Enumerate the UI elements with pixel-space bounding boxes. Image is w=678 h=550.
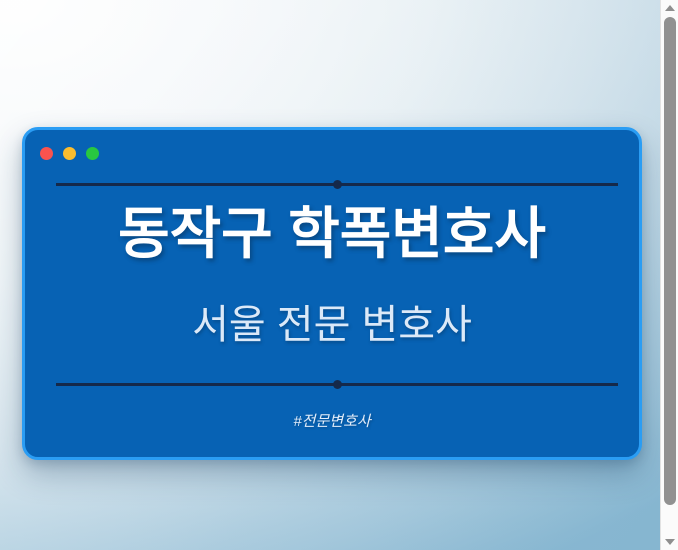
card-subheadline: 서울 전문 변호사 bbox=[25, 303, 639, 348]
card-headline: 동작구 학폭변호사 bbox=[25, 204, 639, 264]
divider-bottom bbox=[56, 383, 618, 386]
vertical-scrollbar[interactable] bbox=[660, 0, 678, 550]
window-traffic-lights bbox=[40, 147, 99, 160]
divider-top bbox=[56, 183, 618, 186]
scroll-down-icon[interactable] bbox=[661, 535, 678, 549]
minimize-icon[interactable] bbox=[63, 147, 76, 160]
scroll-up-icon[interactable] bbox=[661, 1, 678, 15]
browser-viewport: 동작구 학폭변호사 서울 전문 변호사 #전문변호사 bbox=[0, 0, 678, 550]
promo-card: 동작구 학폭변호사 서울 전문 변호사 #전문변호사 bbox=[22, 127, 642, 460]
divider-node-icon bbox=[333, 380, 342, 389]
divider-node-icon bbox=[333, 180, 342, 189]
card-hashtag: #전문변호사 bbox=[25, 410, 639, 431]
maximize-icon[interactable] bbox=[86, 147, 99, 160]
scrollbar-thumb[interactable] bbox=[664, 17, 676, 505]
close-icon[interactable] bbox=[40, 147, 53, 160]
